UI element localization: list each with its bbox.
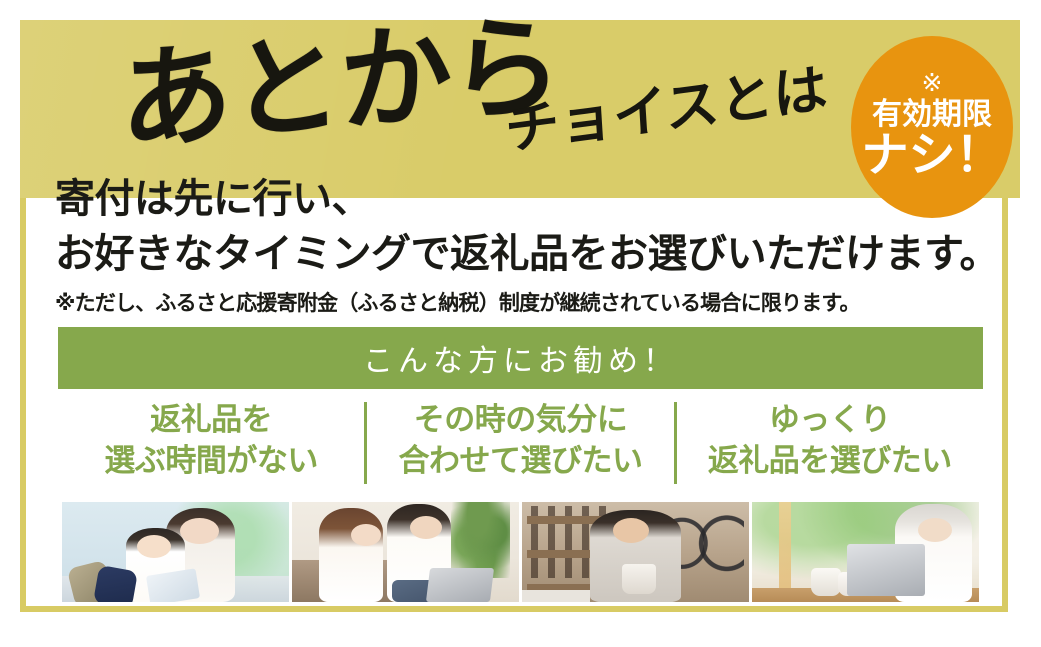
reason-column-2: その時の気分に 合わせて選びたい [367, 400, 673, 482]
recommend-band-label: こんな方にお勧め！ [363, 336, 678, 380]
reason-column-1: 返礼品を 選ぶ時間がない [58, 400, 364, 482]
photo-couple-with-laptop [292, 502, 519, 602]
reason-1-line-1: 返礼品を [58, 400, 364, 441]
reason-columns: 返礼品を 選ぶ時間がない その時の気分に 合わせて選びたい ゆっくり 返礼品を選… [58, 400, 983, 488]
promo-banner: あとから チョイスとは ※ 有効期限 ナシ！ 寄付は先に行い、 お好きなタイミン… [0, 0, 1041, 647]
reason-2-line-1: その時の気分に [367, 400, 673, 441]
reason-3-line-1: ゆっくり [677, 400, 983, 441]
recommend-band: こんな方にお勧め！ [58, 327, 983, 389]
reference-mark-icon: ※ [922, 70, 943, 95]
main-copy: 寄付は先に行い、 お好きなタイミングで返礼品をお選びいただけます。 ※ただし、ふ… [55, 172, 995, 320]
stamp-line-2: ナシ！ [862, 132, 1003, 180]
reason-1-line-2: 選ぶ時間がない [58, 441, 364, 482]
reason-3-line-2: 返礼品を選びたい [677, 441, 983, 482]
reason-column-3: ゆっくり 返礼品を選びたい [677, 400, 983, 482]
photo-senior-woman-with-laptop [752, 502, 979, 602]
copy-disclaimer: ※ただし、ふるさと応援寄附金（ふるさと納税）制度が継続されている場合に限ります。 [55, 288, 995, 320]
copy-line-1: 寄付は先に行い、 [55, 172, 995, 227]
stamp-line-1: 有効期限 [872, 99, 992, 131]
photo-strip [62, 502, 979, 602]
photo-mother-and-child-with-tablet [62, 502, 289, 602]
photo-man-with-mug-in-cafe [522, 502, 749, 602]
reason-2-line-2: 合わせて選びたい [367, 441, 673, 482]
no-expiry-stamp: ※ 有効期限 ナシ！ [851, 36, 1013, 218]
copy-line-2: お好きなタイミングで返礼品をお選びいただけます。 [55, 227, 995, 282]
